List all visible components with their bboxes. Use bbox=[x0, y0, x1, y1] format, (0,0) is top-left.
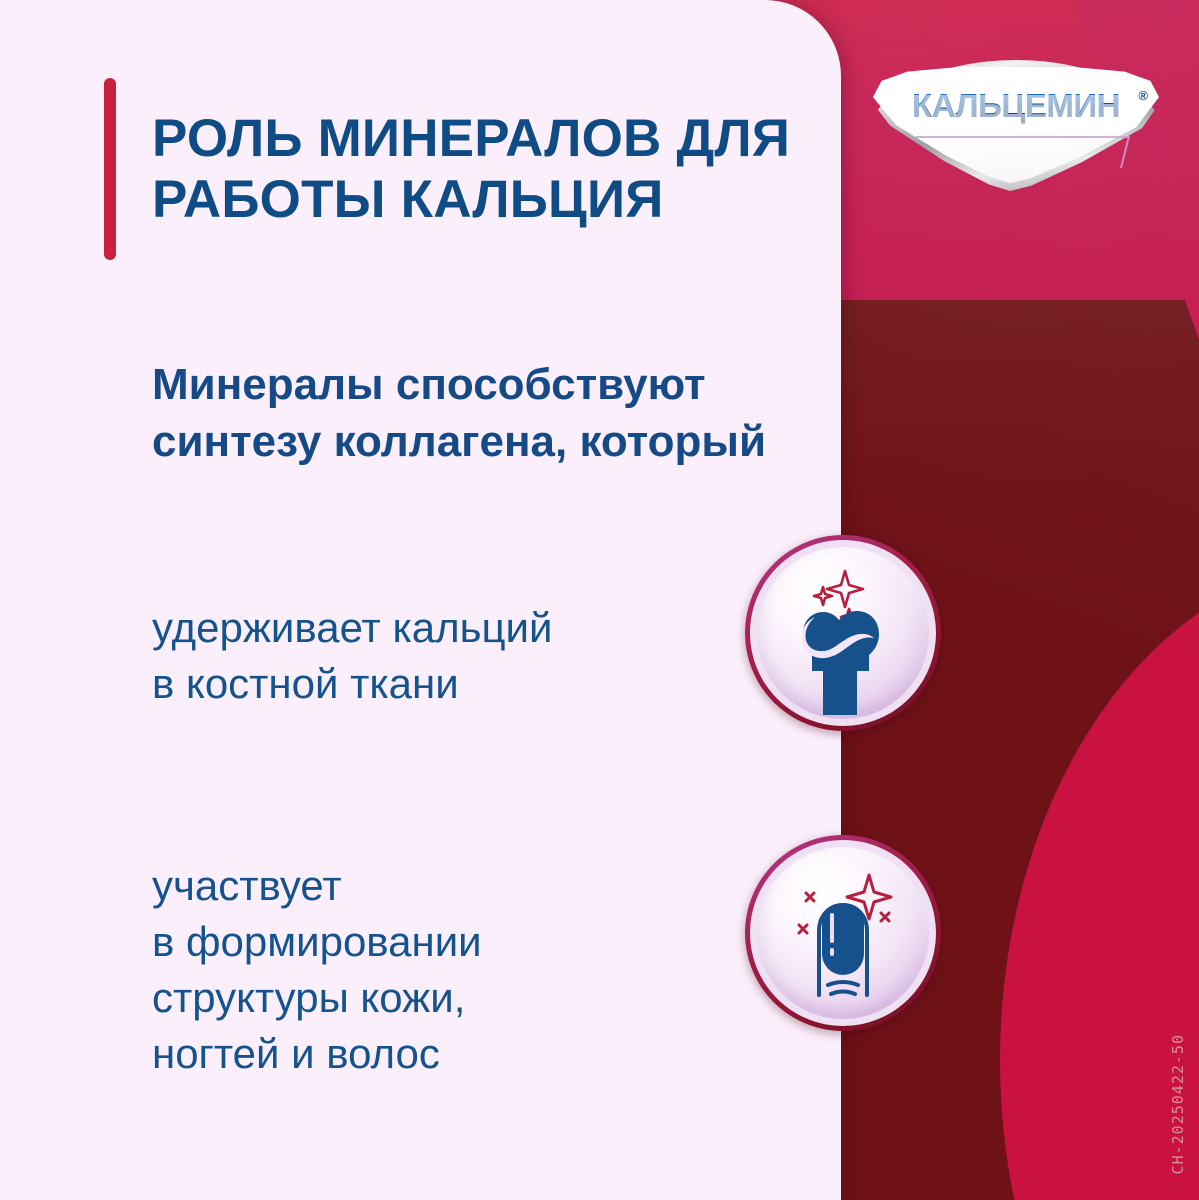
approval-code: CH-20250422-50 bbox=[1169, 1034, 1187, 1174]
headline-accent-bar bbox=[104, 78, 116, 260]
logo-wordmark: КАЛЬЦЕМИН bbox=[866, 87, 1166, 125]
badge-bone bbox=[745, 535, 941, 731]
registered-trademark-icon: ® bbox=[1138, 88, 1148, 103]
page-title: РОЛЬ МИНЕРАЛОВ ДЛЯ РАБОТЫ КАЛЬЦИЯ bbox=[152, 108, 812, 230]
bone-joint-icon bbox=[757, 547, 929, 719]
badge-nail bbox=[745, 835, 941, 1031]
promo-poster: РОЛЬ МИНЕРАЛОВ ДЛЯ РАБОТЫ КАЛЬЦИЯ Минера… bbox=[0, 0, 1199, 1200]
fingernail-icon bbox=[757, 847, 929, 1019]
benefit-text-bone: удерживает кальций в костной ткани bbox=[152, 600, 792, 712]
brand-logo: КАЛЬЦЕМИН ® bbox=[866, 60, 1166, 191]
subheading-text: Минералы способствуют синтезу коллагена,… bbox=[152, 357, 852, 471]
benefit-text-skin-nails-hair: участвует в формировании структуры кожи,… bbox=[152, 858, 792, 1081]
logo-swoosh-line bbox=[908, 136, 1130, 168]
